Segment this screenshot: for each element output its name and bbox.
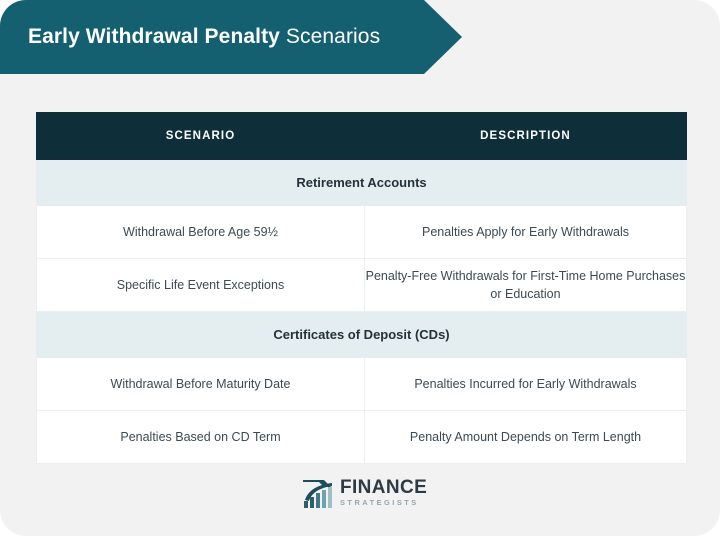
cell-scenario: Penalties Based on CD Term bbox=[37, 411, 365, 464]
infographic-page: Early Withdrawal Penalty Scenarios SCENA… bbox=[0, 0, 720, 536]
chart-arrow-logo-icon bbox=[302, 478, 335, 509]
section-title-retirement-accounts: Retirement Accounts bbox=[37, 160, 687, 206]
logo-wordmark: FINANCE STRATEGISTS bbox=[340, 478, 427, 508]
table-row: Penalties Based on CD Term Penalty Amoun… bbox=[37, 411, 687, 464]
section-title-certificates-of-deposit: Certificates of Deposit (CDs) bbox=[37, 312, 687, 358]
cell-description: Penalty Amount Depends on Term Length bbox=[365, 411, 687, 464]
logo-secondary-text: STRATEGISTS bbox=[340, 498, 427, 508]
section-row: Retirement Accounts bbox=[37, 160, 687, 206]
table-header: SCENARIO DESCRIPTION bbox=[37, 113, 687, 160]
cell-description: Penalties Apply for Early Withdrawals bbox=[365, 206, 687, 259]
cell-description: Penalty-Free Withdrawals for First-Time … bbox=[365, 259, 687, 312]
page-title-light: Scenarios bbox=[286, 25, 380, 48]
column-header-description: DESCRIPTION bbox=[365, 113, 687, 160]
table-row: Specific Life Event Exceptions Penalty-F… bbox=[37, 259, 687, 312]
scenarios-table: SCENARIO DESCRIPTION Retirement Accounts… bbox=[36, 112, 687, 464]
section-row: Certificates of Deposit (CDs) bbox=[37, 312, 687, 358]
title-banner: Early Withdrawal Penalty Scenarios bbox=[0, 0, 462, 74]
page-title: Early Withdrawal Penalty Scenarios bbox=[0, 24, 380, 50]
column-header-scenario: SCENARIO bbox=[37, 113, 365, 160]
table-body: Retirement Accounts Withdrawal Before Ag… bbox=[37, 160, 687, 464]
finance-strategists-logo: FINANCE STRATEGISTS bbox=[302, 476, 427, 510]
cell-scenario: Withdrawal Before Maturity Date bbox=[37, 358, 365, 411]
table-row: Withdrawal Before Maturity Date Penaltie… bbox=[37, 358, 687, 411]
table-header-row: SCENARIO DESCRIPTION bbox=[37, 113, 687, 160]
cell-scenario: Withdrawal Before Age 59½ bbox=[37, 206, 365, 259]
logo-primary-text: FINANCE bbox=[340, 478, 427, 497]
cell-scenario: Specific Life Event Exceptions bbox=[37, 259, 365, 312]
table-row: Withdrawal Before Age 59½ Penalties Appl… bbox=[37, 206, 687, 259]
cell-description: Penalties Incurred for Early Withdrawals bbox=[365, 358, 687, 411]
page-title-strong: Early Withdrawal Penalty bbox=[28, 25, 280, 48]
